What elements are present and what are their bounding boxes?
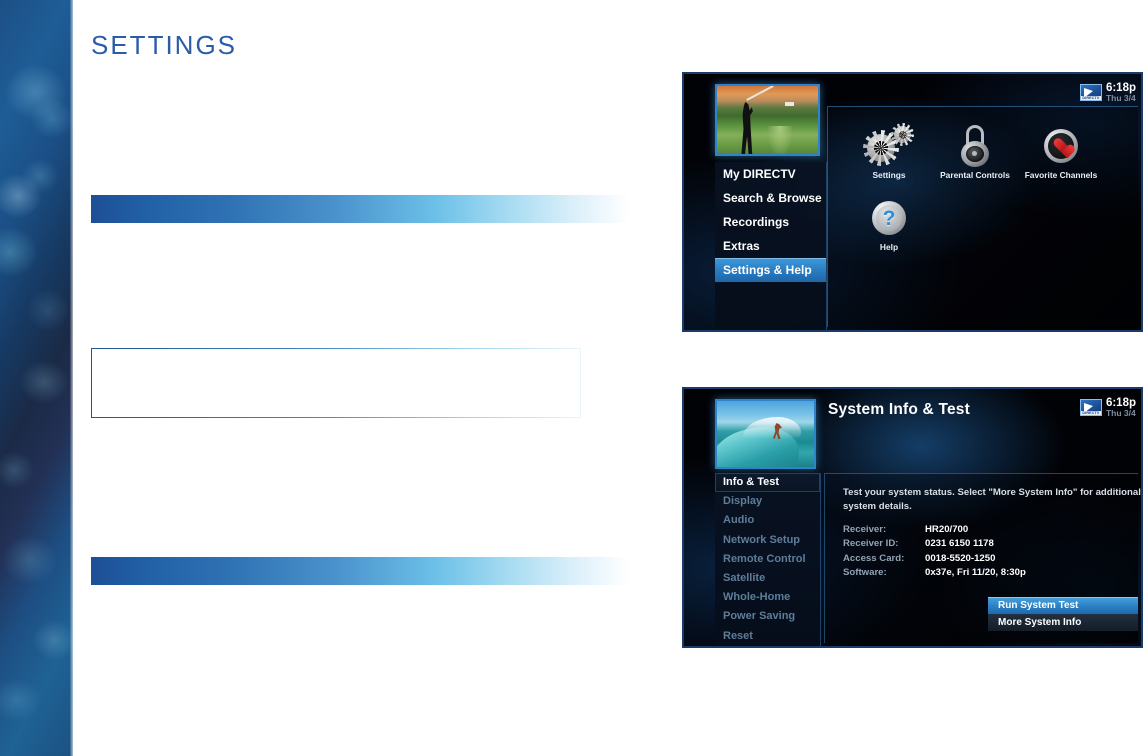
info-label-receiver: Receiver: — [843, 524, 925, 538]
system-info-pane: Test your system status. Select "More Sy… — [824, 473, 1138, 643]
wave-crest-shape — [743, 417, 801, 439]
sidebar-item-satellite[interactable]: Satellite — [715, 569, 820, 588]
golf-preview-thumbnail[interactable] — [715, 84, 820, 156]
fairway-highlight — [767, 126, 793, 156]
system-info-table: Receiver: HR20/700 Receiver ID: 0231 615… — [843, 524, 1026, 582]
sidebar-item-done[interactable]: Done — [715, 646, 820, 648]
directv-logo-text: DIRECTV — [1081, 411, 1101, 415]
helicopter-shape — [785, 102, 794, 106]
info-value-receiver: HR20/700 — [925, 524, 1026, 538]
sidebar-item-reset[interactable]: Reset — [715, 627, 820, 646]
padlock-icon — [958, 123, 992, 169]
more-system-info-button[interactable]: More System Info — [988, 614, 1138, 631]
menu-tile-settings[interactable]: Settings — [846, 123, 932, 195]
directv-logo-text: DIRECTV — [1081, 96, 1101, 100]
menu-tile-label: Parental Controls — [940, 170, 1010, 180]
menu-tile-parental-controls[interactable]: Parental Controls — [932, 123, 1018, 195]
question-mark-icon: ? — [872, 195, 906, 241]
settings-icon-grid: Settings Parental Controls — [846, 123, 1132, 267]
sidebar-item-audio[interactable]: Audio — [715, 511, 820, 530]
menu-tile-label: Favorite Channels — [1025, 170, 1098, 180]
info-label-software: Software: — [843, 567, 925, 581]
settings-menu-sidebar: Info & Test Display Audio Network Setup … — [715, 473, 821, 646]
info-value-receiver-id: 0231 6150 1178 — [925, 538, 1026, 552]
clock-date: Thu 3/4 — [1106, 94, 1136, 103]
sidebar-item-remote-control[interactable]: Remote Control — [715, 550, 820, 569]
action-button-group: Run System Test More System Info — [988, 597, 1138, 631]
table-row: Software: 0x37e, Fri 11/20, 8:30p — [843, 567, 1026, 581]
table-row: Receiver: HR20/700 — [843, 524, 1026, 538]
golfer-silhouette — [739, 102, 754, 154]
page-root: SETTINGS DIRECTV 6:18p Thu 3/4 My DIRECT… — [0, 0, 1143, 756]
table-row: Access Card: 0018-5520-1250 — [843, 553, 1026, 567]
sidebar-item-network-setup[interactable]: Network Setup — [715, 531, 820, 550]
tv-screenshot-system-info-test: System Info & Test DIRECTV 6:18p Thu 3/4… — [682, 387, 1143, 648]
instruction-text: Test your system status. Select "More Sy… — [843, 486, 1143, 514]
page-title: SETTINGS — [91, 30, 237, 61]
surfing-preview-thumbnail[interactable] — [715, 399, 816, 469]
decorative-left-strip — [0, 0, 73, 756]
info-label-receiver-id: Receiver ID: — [843, 538, 925, 552]
settings-icon-pane: Settings Parental Controls — [827, 106, 1138, 327]
menu-tile-help[interactable]: ? Help — [846, 195, 932, 267]
clock-widget: DIRECTV 6:18p Thu 3/4 — [1080, 82, 1136, 103]
clock-date: Thu 3/4 — [1106, 409, 1136, 418]
section-divider-bar-bottom — [91, 557, 629, 585]
info-label-access-card: Access Card: — [843, 553, 925, 567]
table-row: Receiver ID: 0231 6150 1178 — [843, 538, 1026, 552]
info-value-access-card: 0018-5520-1250 — [925, 553, 1026, 567]
sidebar-item-info-test[interactable]: Info & Test — [715, 473, 820, 492]
sidebar-item-settings-help[interactable]: Settings & Help — [715, 258, 826, 282]
info-value-software: 0x37e, Fri 11/20, 8:30p — [925, 567, 1026, 581]
sidebar-item-extras[interactable]: Extras — [715, 234, 826, 258]
sidebar-item-search-browse[interactable]: Search & Browse — [715, 186, 826, 210]
menu-tile-favorite-channels[interactable]: Favorite Channels — [1018, 123, 1104, 195]
sidebar-item-whole-home[interactable]: Whole-Home — [715, 588, 820, 607]
heart-icon — [1044, 123, 1078, 169]
screen-title: System Info & Test — [828, 401, 970, 419]
tv-screenshot-settings-help: DIRECTV 6:18p Thu 3/4 My DIRECTV Search … — [682, 72, 1143, 332]
golf-club-icon — [746, 85, 773, 101]
menu-tile-label: Help — [880, 242, 898, 252]
run-system-test-button[interactable]: Run System Test — [988, 597, 1138, 614]
sidebar-item-display[interactable]: Display — [715, 492, 820, 511]
gears-icon — [867, 123, 911, 169]
directv-logo-icon: DIRECTV — [1080, 399, 1102, 416]
clock-widget: DIRECTV 6:18p Thu 3/4 — [1080, 397, 1136, 418]
sidebar-item-recordings[interactable]: Recordings — [715, 210, 826, 234]
note-box — [91, 348, 581, 418]
main-menu-sidebar: My DIRECTV Search & Browse Recordings Ex… — [715, 162, 827, 330]
directv-logo-icon: DIRECTV — [1080, 84, 1102, 101]
sidebar-item-my-directv[interactable]: My DIRECTV — [715, 162, 826, 186]
menu-tile-label: Settings — [872, 170, 905, 180]
sidebar-item-power-saving[interactable]: Power Saving — [715, 607, 820, 626]
section-divider-bar-top — [91, 195, 629, 223]
